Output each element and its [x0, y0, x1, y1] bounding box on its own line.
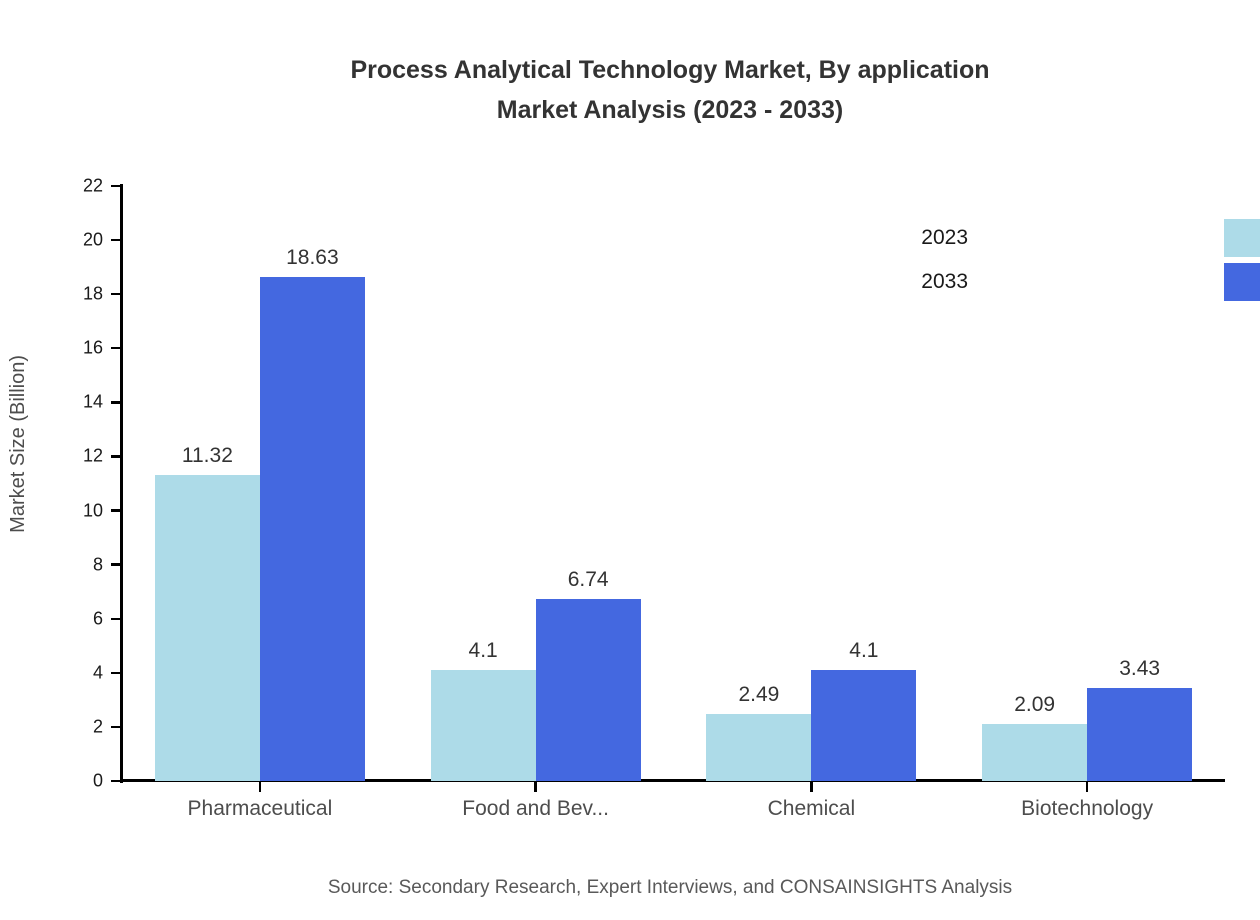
y-axis-tick: 22 — [111, 185, 122, 187]
y-axis-tick-label: 16 — [83, 338, 103, 359]
x-axis-tick — [259, 781, 261, 792]
bar[interactable]: 2.09 — [982, 724, 1087, 781]
bar-value-label: 2.09 — [1014, 693, 1055, 717]
y-axis-tick: 6 — [111, 618, 122, 620]
bar-value-label: 18.63 — [286, 246, 339, 270]
y-axis-tick-label: 10 — [83, 500, 103, 521]
y-axis-tick: 2 — [111, 726, 122, 728]
chart-title: Process Analytical Technology Market, By… — [0, 50, 1260, 130]
x-axis-tick-label: Biotechnology — [1021, 797, 1153, 821]
y-axis-tick-label: 14 — [83, 392, 103, 413]
x-axis-tick-label: Chemical — [768, 797, 856, 821]
bar[interactable]: 2.49 — [706, 714, 811, 781]
bar[interactable]: 18.63 — [260, 277, 365, 781]
bar[interactable]: 3.43 — [1087, 688, 1192, 781]
bar-value-label: 11.32 — [182, 444, 233, 468]
source-note: Source: Secondary Research, Expert Inter… — [0, 877, 1260, 899]
y-axis-tick-label: 6 — [93, 608, 103, 629]
y-axis-tick-label: 4 — [93, 662, 103, 683]
bar-value-label: 4.1 — [469, 639, 498, 663]
x-axis-tick — [534, 781, 536, 792]
bar-value-label: 2.49 — [738, 683, 779, 707]
y-axis-tick-label: 20 — [83, 230, 103, 251]
chart-title-line-1: Process Analytical Technology Market, By… — [350, 56, 989, 84]
y-axis-tick: 14 — [111, 401, 122, 403]
legend-label: 2023 — [921, 226, 968, 250]
bar-value-label: 6.74 — [568, 568, 609, 592]
bar[interactable]: 4.1 — [431, 670, 536, 781]
y-axis-tick: 18 — [111, 293, 122, 295]
legend-label: 2033 — [921, 270, 968, 294]
y-axis-tick-label: 12 — [83, 446, 103, 467]
legend-color-swatch — [1224, 219, 1260, 257]
y-axis-tick-label: 0 — [93, 770, 103, 791]
y-axis-tick: 10 — [111, 509, 122, 511]
y-axis-tick-label: 2 — [93, 716, 103, 737]
bar-value-label: 3.43 — [1119, 657, 1160, 681]
y-axis-tick: 0 — [111, 780, 122, 782]
y-axis-label: Market Size (Billion) — [7, 355, 30, 533]
y-axis-tick: 8 — [111, 563, 122, 565]
plot-area: 0246810121416182022 PharmaceuticalFood a… — [122, 186, 1225, 781]
chart-title-line-2: Market Analysis (2023 - 2033) — [497, 96, 843, 124]
bar[interactable]: 4.1 — [811, 670, 916, 781]
y-axis-tick-label: 22 — [83, 176, 103, 197]
y-axis-tick-label: 18 — [83, 284, 103, 305]
x-axis-tick-label: Food and Bev... — [462, 797, 609, 821]
y-axis-tick-label: 8 — [93, 554, 103, 575]
bar-series-group: 11.3218.634.16.742.494.12.093.43 — [122, 186, 1225, 781]
bar-value-label: 4.1 — [849, 639, 878, 663]
bar[interactable]: 11.32 — [155, 475, 260, 781]
x-axis-tick-label: Pharmaceutical — [188, 797, 333, 821]
legend-color-swatch — [1224, 263, 1260, 301]
x-axis-tick — [810, 781, 812, 792]
y-axis-tick: 16 — [111, 347, 122, 349]
y-axis-tick: 4 — [111, 672, 122, 674]
x-axis-tick — [1086, 781, 1088, 792]
y-axis-tick: 12 — [111, 455, 122, 457]
y-axis-tick: 20 — [111, 239, 122, 241]
bar[interactable]: 6.74 — [536, 599, 641, 781]
bar-chart: Process Analytical Technology Market, By… — [0, 0, 1260, 920]
